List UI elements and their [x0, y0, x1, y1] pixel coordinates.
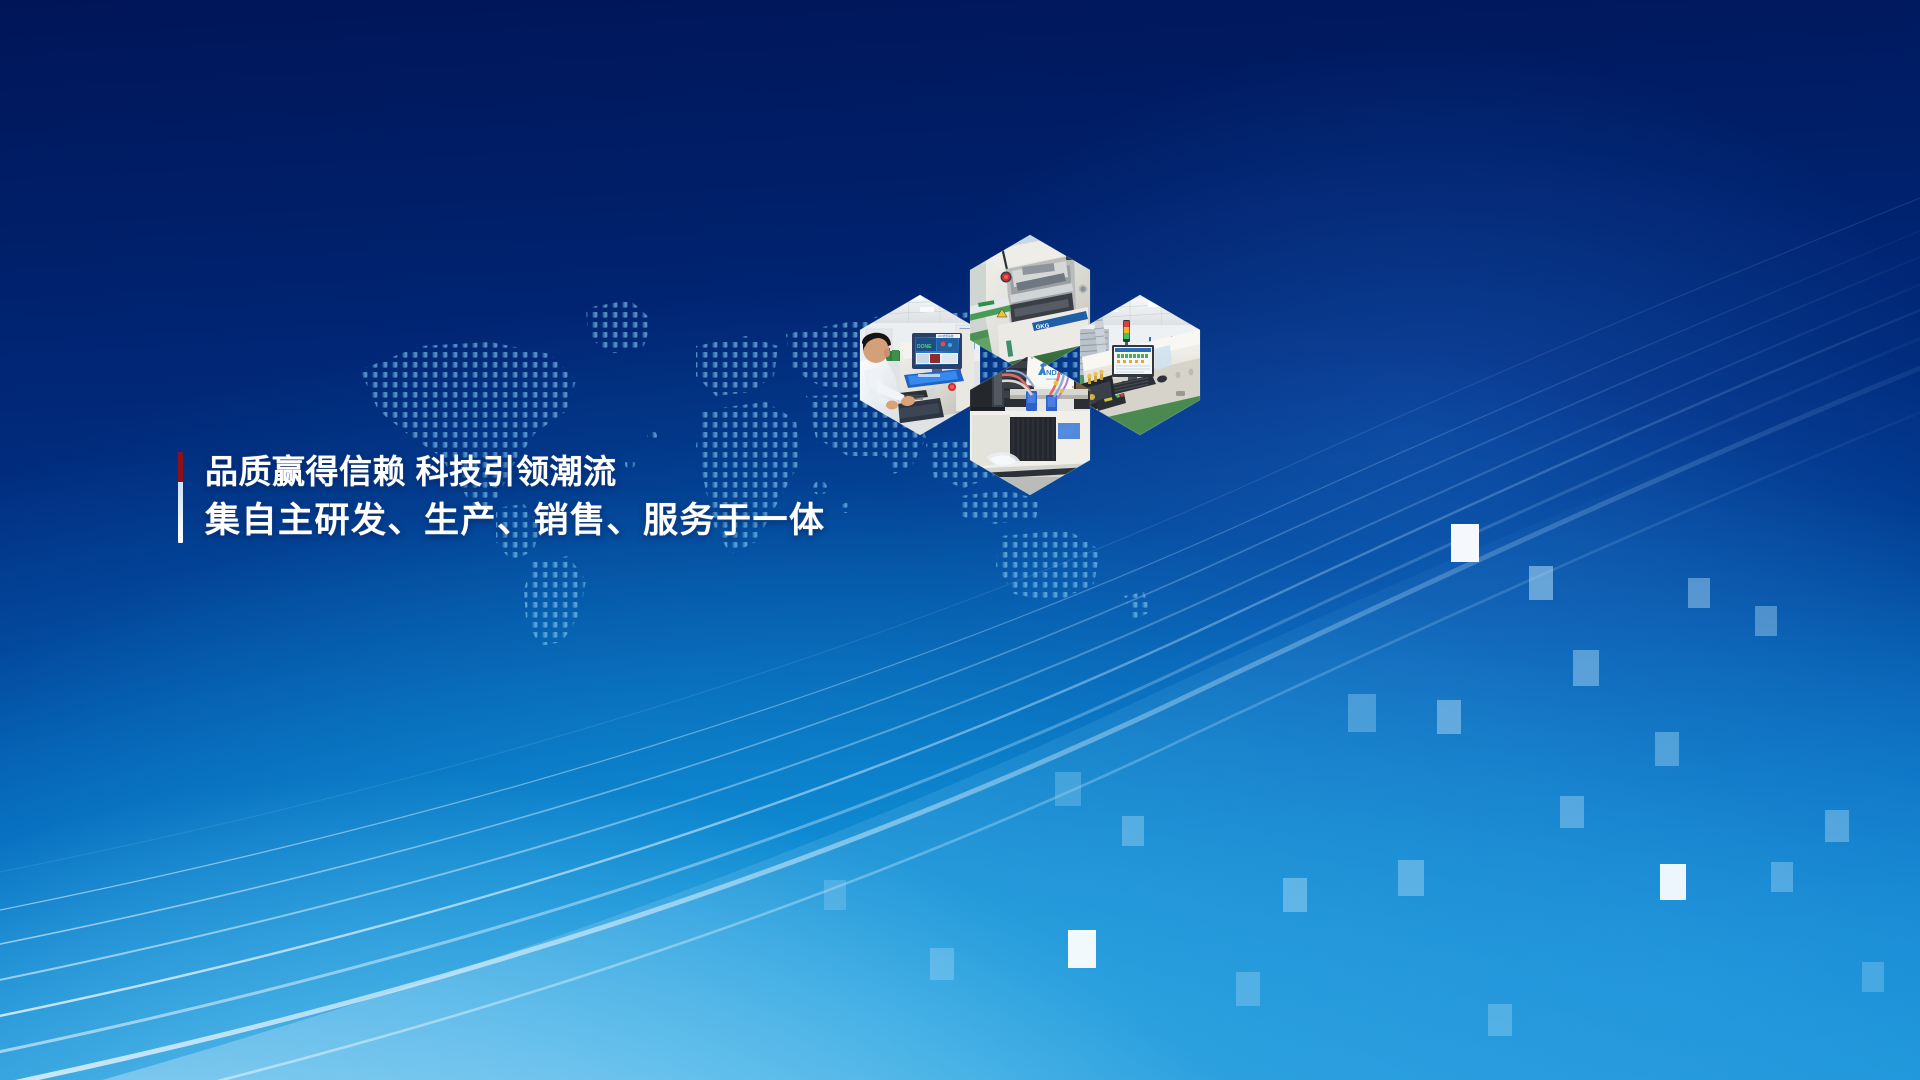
hex-photo-aoi-station: DONE AOI 检测系统	[852, 285, 990, 445]
hex-photo-reflow-oven	[1075, 290, 1205, 441]
svg-text:AOI 检测系统: AOI 检测系统	[938, 334, 954, 338]
hex-photo-dispensing-robot: NDA Automatic	[965, 350, 1096, 501]
hexagon-photo-cluster: DONE AOI 检测系统	[860, 225, 1460, 635]
banner-stage: 品质赢得信赖 科技引领潮流 集自主研发、生产、销售、服务于一体	[0, 0, 1920, 1080]
headline-block: 品质赢得信赖 科技引领潮流 集自主研发、生产、销售、服务于一体	[178, 452, 826, 543]
headline-line-1: 品质赢得信赖 科技引领潮流	[205, 452, 826, 492]
svg-text:DONE: DONE	[917, 344, 932, 350]
headline-line-2: 集自主研发、生产、销售、服务于一体	[205, 500, 826, 543]
headline-lines: 品质赢得信赖 科技引领潮流 集自主研发、生产、销售、服务于一体	[205, 452, 826, 543]
vertical-accent-bar	[178, 452, 183, 543]
